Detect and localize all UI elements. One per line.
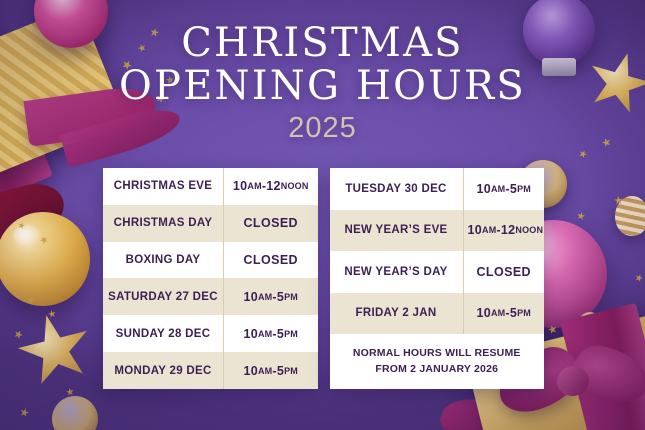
resume-note-row: NORMAL HOURS WILL RESUME FROM 2 JANUARY … — [330, 334, 545, 389]
table-row: SUNDAY 28 DEC 10AM-5PM — [103, 315, 318, 352]
closed-label: CLOSED — [477, 265, 532, 279]
table-row: CHRISTMAS EVE 10AM-12NOON — [103, 168, 318, 205]
day-label: FRIDAY 2 JAN — [330, 293, 463, 335]
table-row: FRIDAY 2 JAN 10AM-5PM — [330, 293, 545, 335]
table-row: NEW YEAR’S EVE 10AM-12NOON — [330, 210, 545, 252]
hours-meridiem-2: PM — [284, 292, 298, 302]
hours-number: 10 — [476, 306, 491, 320]
hours-value: CLOSED — [223, 242, 318, 279]
hours-meridiem-2: PM — [284, 366, 298, 376]
table-row: NEW YEAR’S DAY CLOSED — [330, 251, 545, 293]
hours-number-2: -12 — [496, 223, 515, 237]
day-label: NEW YEAR’S EVE — [330, 210, 463, 252]
day-label: SATURDAY 27 DEC — [103, 278, 223, 315]
hours-number-2: -12 — [262, 179, 281, 193]
table-row: TUESDAY 30 DEC 10AM-5PM — [330, 168, 545, 210]
hours-number: 10 — [243, 290, 258, 304]
day-label: TUESDAY 30 DEC — [330, 168, 463, 210]
day-label: SUNDAY 28 DEC — [103, 315, 223, 352]
closed-label: CLOSED — [244, 216, 299, 230]
hours-meridiem: AM — [491, 184, 505, 194]
hours-number: 10 — [468, 223, 483, 237]
hours-value: 10AM-12NOON — [463, 210, 545, 252]
resume-note-date: 2 JANUARY 2026 — [410, 363, 498, 375]
hours-meridiem-2: PM — [284, 329, 298, 339]
hours-value: 10AM-5PM — [223, 315, 318, 352]
hours-number-2: -5 — [272, 290, 284, 304]
hours-value: 10AM-12NOON — [223, 168, 318, 205]
hours-number: 10 — [476, 182, 491, 196]
hours-number-2: -5 — [272, 364, 284, 378]
day-label: MONDAY 29 DEC — [103, 352, 223, 389]
hours-value: 10AM-5PM — [223, 278, 318, 315]
hours-meridiem: AM — [258, 366, 272, 376]
title-line-1: CHRISTMAS — [0, 22, 645, 65]
opening-hours-table-right: TUESDAY 30 DEC 10AM-5PM NEW YEAR’S EVE 1… — [330, 168, 545, 389]
hours-meridiem-2: NOON — [515, 225, 543, 235]
hours-meridiem-2: PM — [517, 184, 531, 194]
hours-number: 10 — [243, 364, 258, 378]
hours-meridiem-2: PM — [517, 308, 531, 318]
opening-hours-table-left: CHRISTMAS EVE 10AM-12NOON CHRISTMAS DAY … — [103, 168, 318, 389]
resume-note-prefix: FROM — [375, 363, 410, 375]
hours-number: 10 — [243, 327, 258, 341]
hours-number-2: -5 — [272, 327, 284, 341]
hours-meridiem: AM — [258, 292, 272, 302]
hours-number: 10 — [233, 179, 248, 193]
day-label: CHRISTMAS EVE — [103, 168, 223, 205]
table-row: CHRISTMAS DAY CLOSED — [103, 205, 318, 242]
resume-note-line-1: NORMAL HOURS WILL RESUME — [353, 347, 521, 359]
table-row: BOXING DAY CLOSED — [103, 242, 318, 279]
hours-value: 10AM-5PM — [463, 168, 545, 210]
hours-meridiem: AM — [247, 181, 261, 191]
table-row: SATURDAY 27 DEC 10AM-5PM — [103, 278, 318, 315]
hours-value: 10AM-5PM — [223, 352, 318, 389]
closed-label: CLOSED — [244, 253, 299, 267]
hours-number-2: -5 — [505, 182, 517, 196]
day-label: NEW YEAR’S DAY — [330, 251, 463, 293]
hours-meridiem-2: NOON — [281, 181, 309, 191]
title-line-2: OPENING HOURS — [0, 65, 645, 108]
hours-value: 10AM-5PM — [463, 293, 545, 335]
resume-note-text: NORMAL HOURS WILL RESUME FROM 2 JANUARY … — [353, 346, 521, 378]
hours-number-2: -5 — [505, 306, 517, 320]
day-label: CHRISTMAS DAY — [103, 205, 223, 242]
poster-title: CHRISTMAS OPENING HOURS 2025 — [0, 22, 645, 145]
day-label: BOXING DAY — [103, 242, 223, 279]
hours-value: CLOSED — [463, 251, 545, 293]
hours-meridiem: AM — [491, 308, 505, 318]
opening-hours-tables: CHRISTMAS EVE 10AM-12NOON CHRISTMAS DAY … — [103, 168, 544, 389]
table-row: MONDAY 29 DEC 10AM-5PM — [103, 352, 318, 389]
hours-value: CLOSED — [223, 205, 318, 242]
title-year: 2025 — [0, 112, 645, 145]
hours-meridiem: AM — [258, 329, 272, 339]
hours-meridiem: AM — [482, 225, 496, 235]
christmas-opening-hours-poster: CHRISTMAS OPENING HOURS 2025 CHRISTMAS E… — [0, 0, 645, 430]
